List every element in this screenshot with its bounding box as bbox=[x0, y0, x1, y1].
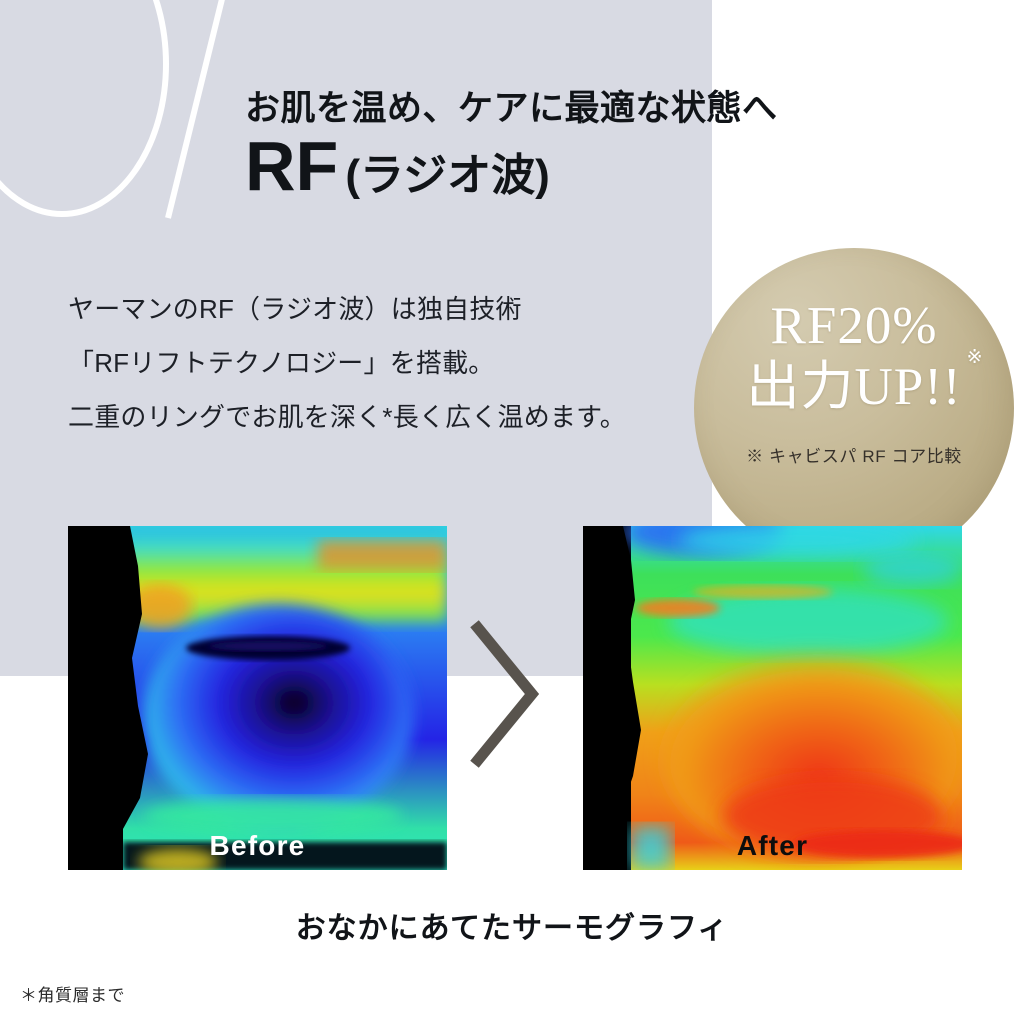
section-subheading: お肌を温め、ケアに最適な状態へ bbox=[245, 80, 778, 131]
rf-output-badge: RF20% 出力UP!! ※ ※ キャビスパ RF コア比較 bbox=[694, 248, 1014, 568]
section-heading-paren: (ラジオ波) bbox=[345, 154, 549, 198]
rf-output-badge-content: RF20% 出力UP!! ※ ※ キャビスパ RF コア比較 bbox=[694, 296, 1014, 467]
thermography-after-label: After bbox=[583, 830, 962, 862]
rf-output-badge-note: ※ キャビスパ RF コア比較 bbox=[694, 442, 1014, 467]
section-heading-rf: RF bbox=[245, 131, 338, 201]
body-copy-line-1: ヤーマンのRF（ラジオ波）は独自技術 bbox=[68, 282, 626, 336]
chevron-right-icon bbox=[466, 620, 546, 768]
section-heading: RF (ラジオ波) bbox=[245, 131, 550, 201]
footnote: ＊角質層まで bbox=[20, 981, 125, 1006]
body-copy: ヤーマンのRF（ラジオ波）は独自技術 「RFリフトテクノロジー」を搭載。 二重の… bbox=[68, 282, 626, 444]
body-copy-line-2: 「RFリフトテクノロジー」を搭載。 bbox=[68, 336, 626, 390]
rf-output-badge-line-2-text: 出力UP!! bbox=[746, 358, 961, 416]
rf-output-badge-line-2: 出力UP!! ※ bbox=[746, 356, 961, 418]
thermography-before-label: Before bbox=[68, 830, 447, 862]
body-copy-line-3: 二重のリングでお肌を深く*長く広く温めます。 bbox=[68, 390, 626, 444]
thermography-after-image: After bbox=[583, 526, 962, 870]
thermography-before-image: Before bbox=[68, 526, 447, 870]
rf-output-badge-line-1: RF20% bbox=[694, 296, 1014, 356]
thermography-caption: おなかにあてたサーモグラフィ bbox=[0, 903, 1024, 947]
promo-page: お肌を温め、ケアに最適な状態へ RF (ラジオ波) ヤーマンのRF（ラジオ波）は… bbox=[0, 0, 1024, 1024]
rf-output-badge-superscript: ※ bbox=[967, 348, 984, 367]
